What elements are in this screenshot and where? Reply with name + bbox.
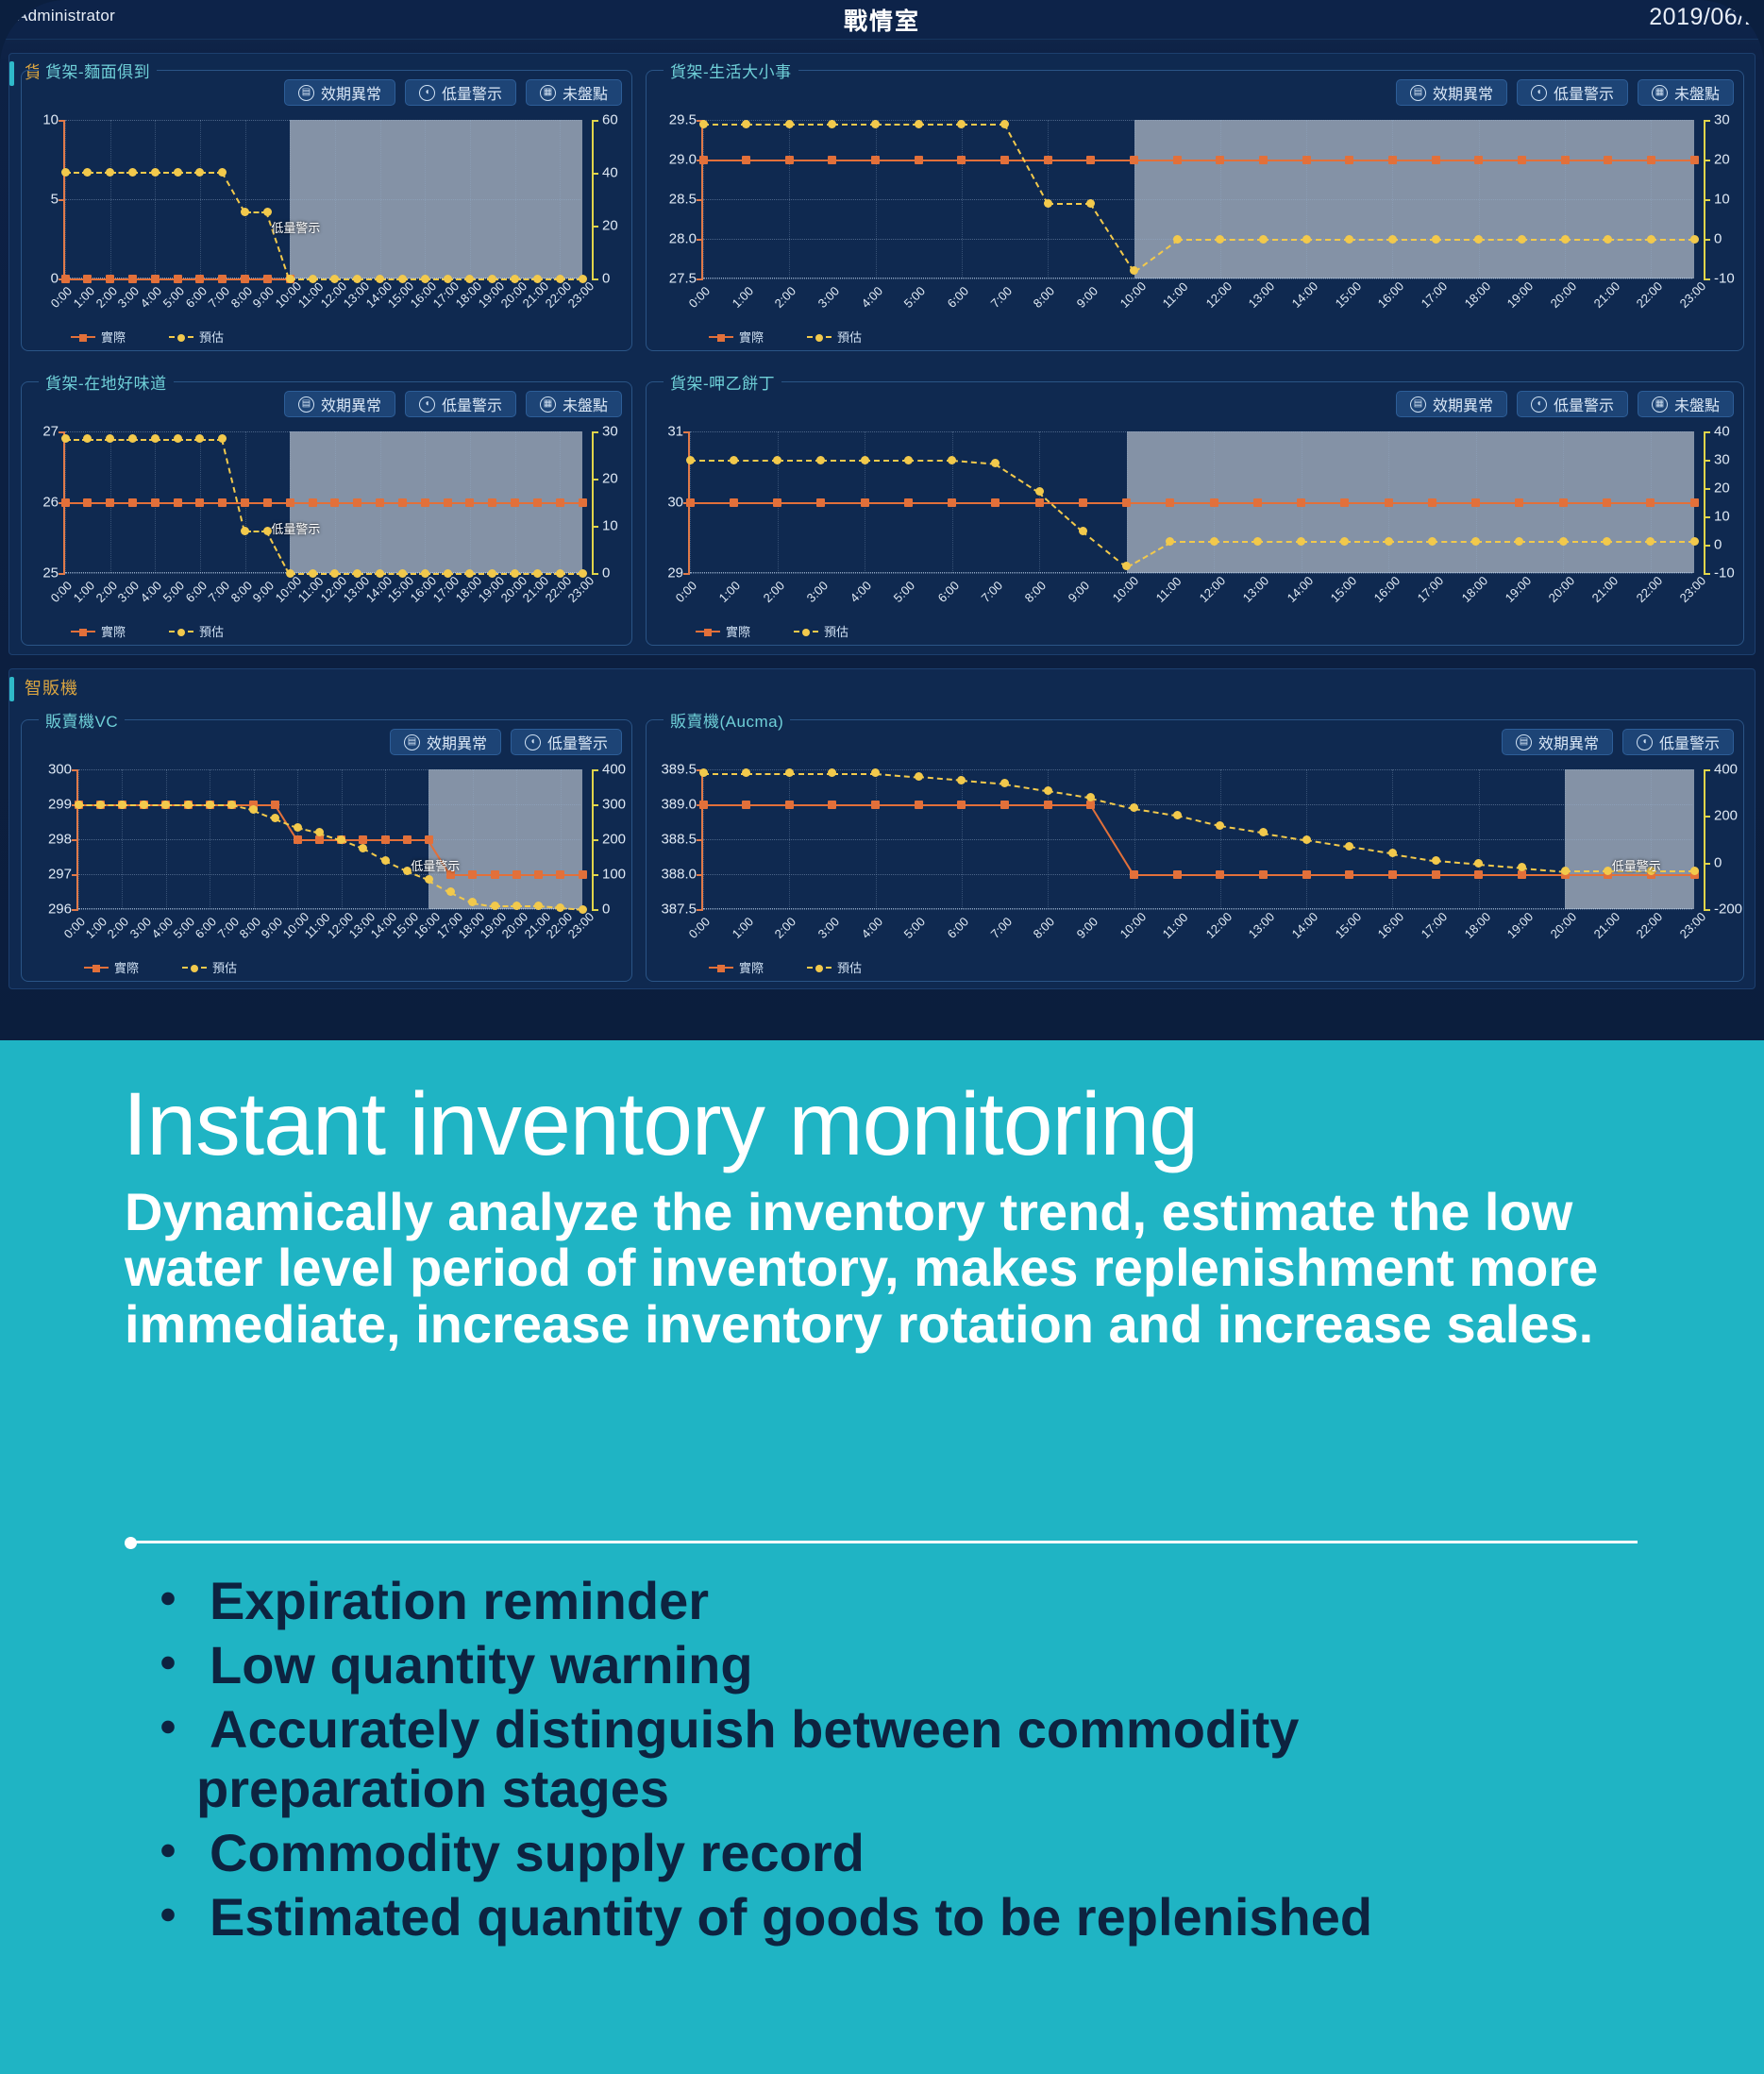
gridline (876, 769, 877, 909)
series-segment (1038, 492, 1084, 532)
x-axis-tick-label: 9:00 (259, 914, 286, 941)
x-axis-tick-label: 13:00 (1246, 278, 1278, 311)
data-point (1471, 498, 1480, 507)
series-segment (1476, 541, 1520, 543)
data-point (904, 498, 913, 507)
gridline (78, 769, 580, 770)
right-axis-tick-label: 200 (602, 832, 626, 848)
button-uncounted[interactable]: ▦未盤點 (526, 391, 622, 417)
x-axis-tick-label: 21:00 (1590, 278, 1622, 311)
y-axis-tick-mark (697, 239, 703, 241)
button-expiry[interactable]: ▤效期異常 (284, 79, 395, 106)
x-axis-tick-label: 19:00 (1504, 909, 1537, 941)
gridline (245, 120, 246, 278)
promo-bullet: ・Commodity supply record (142, 1823, 1746, 1883)
chart-plot-vm-aucma: 387.5388.0388.5389.0389.5-20002004000:00… (701, 769, 1692, 909)
x-axis-tick-label: 16:00 (1375, 278, 1407, 311)
data-point (174, 434, 182, 443)
x-axis-tick-label: 13:00 (1246, 909, 1278, 941)
series-segment (1082, 531, 1127, 567)
data-point (218, 168, 227, 177)
promo-bullet-text: Estimated quantity of goods to be replen… (210, 1887, 1372, 1947)
x-axis-tick-label: 6:00 (945, 914, 972, 941)
gridline (254, 769, 255, 909)
series-segment (1432, 541, 1475, 543)
gridline (789, 769, 790, 909)
button-uncounted[interactable]: ▦未盤點 (526, 79, 622, 106)
y-axis-tick-label: 389.0 (661, 797, 697, 813)
gridline (515, 120, 516, 278)
data-point (1474, 235, 1483, 244)
series-segment (996, 502, 1039, 504)
series-segment (1005, 804, 1049, 806)
data-point (699, 156, 708, 164)
series-segment (865, 502, 908, 504)
right-axis-tick-label: 20 (602, 471, 618, 487)
right-axis-tick-label: 300 (602, 797, 626, 813)
chart-plot-shelf-local: 25262701020300:001:002:003:004:005:006:0… (63, 431, 580, 573)
data-point (128, 168, 137, 177)
low-warning-annotation: 低量警示 (271, 218, 320, 236)
legend-swatch (807, 967, 832, 969)
button-expiry[interactable]: ▤效期異常 (1502, 729, 1613, 755)
data-point (579, 870, 587, 879)
data-point (1345, 235, 1353, 244)
right-axis-tick-label: 30 (1714, 112, 1730, 128)
chart-button-row: ▤效期異常◖低量警示▦未盤點 (1396, 79, 1734, 106)
series-segment (221, 172, 245, 212)
x-axis-tick-label: 2:00 (772, 914, 799, 941)
data-point (174, 275, 182, 283)
series-segment (1257, 541, 1301, 543)
y-axis-tick-label: 29.0 (669, 152, 697, 168)
button-expiry[interactable]: ▤效期異常 (390, 729, 501, 755)
x-axis-tick-label: 16:00 (1375, 909, 1407, 941)
data-point (488, 275, 496, 283)
x-axis-tick-label: 4:00 (858, 283, 885, 311)
right-axis (592, 431, 594, 573)
x-axis-tick-label: 0:00 (48, 283, 76, 311)
series-segment (1263, 160, 1306, 161)
data-point (218, 498, 227, 507)
legend-label: 預估 (824, 622, 848, 640)
data-point (1044, 156, 1052, 164)
gridline (78, 909, 580, 910)
data-point (353, 569, 361, 578)
gridline (962, 120, 963, 278)
y-axis-tick-label: 27 (42, 424, 59, 440)
data-point (491, 902, 499, 910)
right-axis-tick-mark (592, 479, 598, 481)
bullet-marker: ・ (142, 1699, 194, 1759)
button-label: 低量警示 (442, 393, 502, 415)
series-segment (1219, 825, 1263, 834)
right-axis-tick-label: 30 (602, 424, 618, 440)
data-point (785, 768, 794, 777)
data-point (957, 776, 966, 784)
bullet-marker: ・ (142, 1887, 194, 1947)
data-point (106, 434, 114, 443)
data-point (128, 275, 137, 283)
data-point (96, 801, 105, 809)
gridline (1392, 120, 1393, 278)
data-point (1253, 537, 1262, 546)
right-axis-tick-label: 20 (1714, 481, 1730, 497)
data-point (1297, 498, 1305, 507)
data-point (241, 498, 249, 507)
right-axis-tick-mark (1704, 909, 1710, 911)
x-axis-tick-label: 5:00 (160, 578, 188, 605)
y-axis-tick-label: 388.5 (661, 832, 697, 848)
series-segment (690, 502, 733, 504)
button-uncounted[interactable]: ▦未盤點 (1638, 391, 1734, 417)
legend-swatch (71, 631, 95, 632)
legend-swatch (182, 967, 207, 969)
y-axis-tick-label: 387.5 (661, 902, 697, 918)
legend-label: 實際 (739, 958, 764, 976)
chart-title: 販賣機VC (39, 708, 125, 732)
y-axis-tick-mark (72, 874, 78, 876)
data-point (1044, 199, 1052, 208)
clipboard-icon: ▦ (1652, 85, 1668, 101)
button-label: 效期異常 (321, 393, 381, 415)
gridline (1392, 769, 1393, 909)
data-point (381, 856, 390, 865)
series-segment (221, 439, 245, 531)
data-point (1690, 156, 1699, 164)
right-axis-tick-mark (1704, 431, 1710, 433)
promo-subtext: Dynamically analyze the inventory trend,… (125, 1184, 1616, 1352)
legend-item-actual: 實際 (709, 958, 764, 976)
data-point (1428, 537, 1436, 546)
gridline (703, 120, 704, 278)
y-axis-tick-mark (72, 909, 78, 911)
y-axis-tick-label: 30 (667, 495, 683, 511)
legend-item-estimate: 預估 (807, 328, 862, 346)
data-point (861, 456, 869, 464)
gridline (703, 278, 1692, 279)
data-point (1603, 537, 1611, 546)
data-point (1690, 235, 1699, 244)
data-point (330, 498, 339, 507)
button-low[interactable]: ◖低量警示 (1517, 79, 1628, 106)
chart-title: 貨架-麵面俱到 (39, 59, 157, 82)
right-axis-tick-label: 400 (1714, 762, 1738, 778)
series-segment (1302, 502, 1345, 504)
promo-feature-list: ・Expiration reminder・Low quantity warnin… (142, 1571, 1746, 1951)
button-low[interactable]: ◖低量警示 (1517, 391, 1628, 417)
legend-swatch (709, 967, 733, 969)
x-axis-tick-label: 4:00 (858, 914, 885, 941)
data-point (118, 801, 126, 809)
data-point (533, 498, 542, 507)
data-point (871, 120, 880, 128)
legend-label: 預估 (837, 328, 862, 346)
button-expiry[interactable]: ▤效期異常 (284, 391, 395, 417)
series-segment (690, 460, 733, 462)
data-point (1647, 156, 1655, 164)
calendar-icon: ▤ (404, 734, 420, 750)
data-point (195, 168, 204, 177)
right-axis-tick-label: -200 (1714, 902, 1742, 918)
button-low[interactable]: ◖低量警示 (405, 391, 516, 417)
x-axis-tick-label: 23:00 (1677, 573, 1709, 605)
data-point (1646, 537, 1655, 546)
x-axis-tick-label: 15:00 (1332, 909, 1364, 941)
series-segment (1177, 874, 1220, 876)
right-axis-tick-label: 20 (602, 218, 618, 234)
x-axis-tick-label: 3:00 (815, 283, 843, 311)
right-axis-tick-label: 0 (602, 565, 610, 582)
data-point (915, 772, 923, 781)
x-axis-tick-label: 0:00 (686, 914, 714, 941)
button-label: 未盤點 (1674, 81, 1720, 104)
x-axis-tick-label: 6:00 (945, 283, 972, 311)
gridline (1479, 769, 1480, 909)
x-axis-tick-label: 15:00 (1328, 573, 1360, 605)
button-expiry[interactable]: ▤效期異常 (1396, 79, 1507, 106)
data-point (398, 498, 407, 507)
data-point (1690, 537, 1699, 546)
series-segment (1521, 874, 1565, 876)
data-point (1561, 156, 1570, 164)
promo-bullet: ・Estimated quantity of goods to be reple… (142, 1887, 1746, 1948)
data-point (948, 456, 956, 464)
data-point (1471, 537, 1480, 546)
right-axis-tick-mark (592, 573, 598, 575)
series-segment (778, 502, 821, 504)
data-point (381, 835, 390, 844)
button-uncounted[interactable]: ▦未盤點 (1638, 79, 1734, 106)
series-segment (908, 460, 951, 462)
data-point (785, 801, 794, 809)
x-axis-tick-label: 2:00 (772, 283, 799, 311)
button-label: 低量警示 (442, 81, 502, 104)
series-segment (1177, 160, 1220, 161)
promo-panel: Instant inventory monitoring Dynamically… (0, 1040, 1764, 2074)
data-point (579, 569, 587, 578)
x-axis-tick-label: 13:00 (1240, 573, 1272, 605)
data-point (1474, 870, 1483, 879)
gridline (789, 120, 790, 278)
data-point (1259, 156, 1268, 164)
data-point (1385, 537, 1393, 546)
gridline (78, 769, 79, 909)
series-segment (1651, 502, 1694, 504)
button-label: 效期異常 (321, 81, 381, 104)
data-point (742, 120, 750, 128)
x-axis-tick-label: 1:00 (83, 914, 110, 941)
data-point (1345, 842, 1353, 851)
right-axis-tick-label: 0 (1714, 854, 1722, 870)
x-axis-tick-label: 11:00 (1160, 279, 1191, 311)
data-point (1035, 487, 1044, 496)
data-point (534, 902, 543, 910)
x-axis-tick-label: 19:00 (1503, 573, 1535, 605)
data-point (330, 569, 339, 578)
x-axis-tick-label: 9:00 (1066, 578, 1093, 605)
data-point (512, 902, 521, 910)
series-segment (1048, 160, 1091, 161)
right-axis-tick-label: 0 (602, 902, 610, 918)
data-point (957, 120, 966, 128)
data-point (915, 801, 923, 809)
series-segment (1005, 160, 1049, 161)
x-axis-tick-label: 21:00 (1590, 909, 1622, 941)
series-segment (1436, 860, 1479, 866)
button-label: 效期異常 (1538, 731, 1599, 753)
right-axis-tick-mark (592, 431, 598, 433)
legend-item-actual: 實際 (696, 622, 750, 640)
data-point (286, 498, 294, 507)
button-low[interactable]: ◖低量警示 (405, 79, 516, 106)
data-point (828, 768, 836, 777)
legend-swatch (794, 631, 818, 632)
data-point (1432, 870, 1440, 879)
series-segment (1520, 541, 1563, 543)
data-point (1388, 156, 1397, 164)
series-segment (1257, 502, 1301, 504)
gridline (962, 769, 963, 909)
right-axis-tick-label: 40 (602, 165, 618, 181)
series-segment (876, 124, 919, 126)
legend-label: 預估 (212, 958, 237, 976)
button-low[interactable]: ◖低量警示 (1622, 729, 1734, 755)
data-point (1166, 498, 1174, 507)
gridline (122, 769, 123, 909)
data-point (151, 498, 160, 507)
gridline (703, 120, 1692, 121)
data-point (1432, 156, 1440, 164)
series-segment (1436, 160, 1479, 161)
data-point (1561, 235, 1570, 244)
x-axis-tick-label: 4:00 (138, 283, 165, 311)
data-point (556, 275, 564, 283)
right-axis-tick-label: 200 (1714, 808, 1738, 824)
series-segment (1302, 541, 1345, 543)
data-point (556, 903, 564, 912)
data-point (1690, 498, 1699, 507)
series-segment (1565, 239, 1608, 241)
data-point (309, 569, 317, 578)
series-segment (1048, 790, 1091, 799)
data-point (425, 875, 433, 884)
data-point (403, 835, 412, 844)
x-axis-tick-label: 6:00 (183, 578, 210, 605)
series-segment (1392, 853, 1436, 862)
data-point (957, 801, 966, 809)
gridline (210, 769, 210, 909)
data-point (1647, 235, 1655, 244)
calendar-icon: ▤ (1410, 396, 1426, 413)
data-point (61, 498, 70, 507)
data-point (1216, 156, 1224, 164)
button-expiry[interactable]: ▤效期異常 (1396, 391, 1507, 417)
right-axis-tick-mark (1704, 516, 1710, 518)
gridline (1220, 769, 1221, 909)
data-point (83, 168, 92, 177)
dashboard-region: Administrator 戰情室 2019/06/2 貨架 智販機 貨架-麵面… (0, 0, 1764, 1040)
data-point (1044, 801, 1052, 809)
series-segment (1651, 874, 1694, 876)
data-point (1385, 498, 1393, 507)
right-axis-tick-mark (592, 173, 598, 175)
data-point (512, 870, 521, 879)
legend-label: 預估 (199, 622, 224, 640)
gridline (703, 769, 704, 909)
x-axis-tick-label: 2:00 (92, 283, 120, 311)
gridline (703, 769, 1692, 770)
legend-swatch (696, 631, 720, 632)
data-point (861, 498, 869, 507)
right-axis (1704, 431, 1705, 573)
y-axis-tick-label: 0 (51, 271, 59, 287)
data-point (263, 275, 272, 283)
series-segment (1263, 874, 1306, 876)
gridline (703, 839, 1692, 840)
series-segment (1392, 160, 1436, 161)
data-point (151, 275, 160, 283)
right-axis-tick-label: 10 (1714, 192, 1730, 208)
series-segment (951, 460, 995, 465)
y-axis-tick-label: 5 (51, 192, 59, 208)
right-axis-tick-mark (592, 909, 598, 911)
data-point (184, 801, 193, 809)
series-segment (789, 160, 832, 161)
data-point (309, 275, 317, 283)
series-segment (1392, 874, 1436, 876)
x-axis-tick-label: 1:00 (729, 283, 756, 311)
gridline (703, 199, 1692, 200)
right-axis-tick-mark (1704, 160, 1710, 161)
gridline (1565, 769, 1566, 909)
series-segment (1003, 124, 1048, 204)
data-point (1518, 863, 1526, 871)
chart-plot-shelf-biscuit: 293031-100102030400:001:002:003:004:005:… (688, 431, 1692, 573)
series-segment (1220, 874, 1264, 876)
data-point (286, 275, 294, 283)
data-point (425, 835, 433, 844)
x-axis-tick-label: 12:00 (1202, 278, 1235, 311)
data-point (556, 498, 564, 507)
data-point (1302, 156, 1311, 164)
right-axis-tick-mark (592, 839, 598, 841)
calendar-icon: ▤ (1516, 734, 1532, 750)
data-point (61, 434, 70, 443)
data-point (353, 275, 361, 283)
legend-item-estimate: 預估 (169, 328, 224, 346)
gridline (1134, 769, 1135, 909)
x-axis-baseline (703, 908, 1692, 909)
series-segment (747, 160, 790, 161)
series-segment (789, 804, 832, 806)
series-segment (962, 780, 1005, 785)
button-label: 效期異常 (1433, 393, 1493, 415)
data-point (1035, 498, 1044, 507)
data-point (556, 569, 564, 578)
x-axis-tick-label: 15:00 (1332, 278, 1364, 311)
legend-label: 實際 (726, 622, 750, 640)
data-point (218, 434, 227, 443)
data-point (1603, 498, 1611, 507)
clipboard-icon: ▦ (1652, 396, 1668, 413)
button-low[interactable]: ◖低量警示 (511, 729, 622, 755)
series-segment (1134, 160, 1178, 161)
chart-legend: 實際預估 (84, 958, 237, 976)
gridline (166, 769, 167, 909)
data-point (785, 156, 794, 164)
clipboard-icon: ▦ (540, 85, 556, 101)
